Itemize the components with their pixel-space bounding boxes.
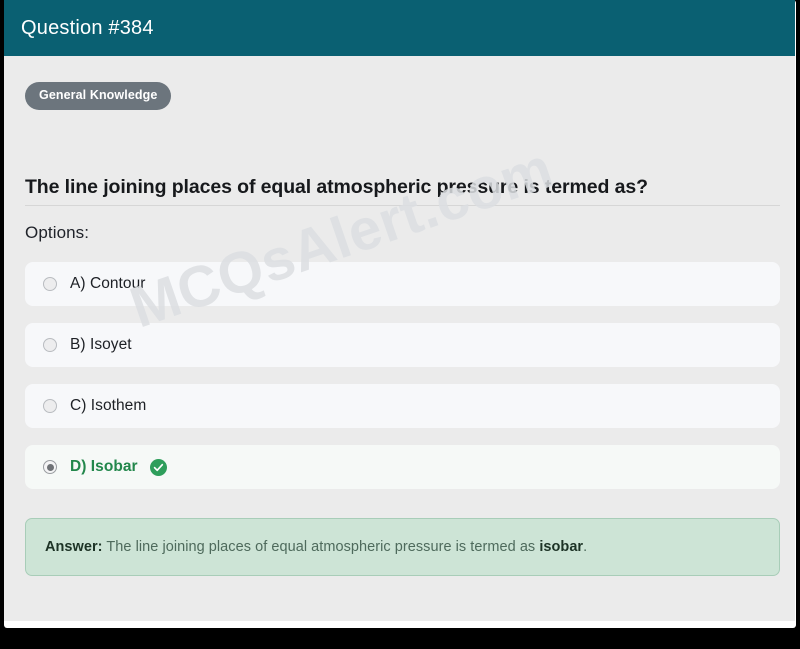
check-circle-icon bbox=[150, 459, 167, 476]
answer-keyword: isobar bbox=[539, 539, 583, 555]
answer-label: Answer: bbox=[45, 539, 103, 555]
question-card: MCQsAlert.com General Knowledge The line… bbox=[4, 56, 795, 621]
status-badge: General Knowledge bbox=[25, 82, 171, 110]
options-label: Options: bbox=[25, 223, 89, 243]
radio-icon-c[interactable] bbox=[43, 399, 57, 413]
option-row-a[interactable]: A) Contour bbox=[25, 262, 780, 306]
option-label-d: D) Isobar bbox=[70, 458, 138, 476]
option-row-c[interactable]: C) Isothem bbox=[25, 384, 780, 428]
answer-text: Answer: The line joining places of equal… bbox=[45, 537, 587, 557]
option-row-b[interactable]: B) Isoyet bbox=[25, 323, 780, 367]
page-title: Question #384 bbox=[21, 18, 154, 38]
radio-icon-a[interactable] bbox=[43, 277, 57, 291]
radio-icon-d[interactable] bbox=[43, 460, 57, 474]
header-bar: Question #384 bbox=[4, 0, 795, 56]
option-label-a: A) Contour bbox=[70, 275, 145, 293]
section-divider bbox=[25, 205, 780, 206]
radio-icon-b[interactable] bbox=[43, 338, 57, 352]
answer-body-after: . bbox=[583, 539, 587, 555]
option-label-b: B) Isoyet bbox=[70, 336, 132, 354]
option-label-c: C) Isothem bbox=[70, 397, 146, 415]
option-row-d[interactable]: D) Isobar bbox=[25, 445, 780, 489]
page-root: Question #384 MCQsAlert.com General Know… bbox=[0, 0, 800, 649]
answer-box: Answer: The line joining places of equal… bbox=[25, 518, 780, 576]
question-text: The line joining places of equal atmosph… bbox=[25, 174, 765, 202]
category-badge-row: General Knowledge bbox=[25, 82, 171, 110]
answer-body-before: The line joining places of equal atmosph… bbox=[103, 539, 540, 555]
options-list: A) Contour B) Isoyet C) Isothem D) Isoba… bbox=[25, 262, 780, 506]
